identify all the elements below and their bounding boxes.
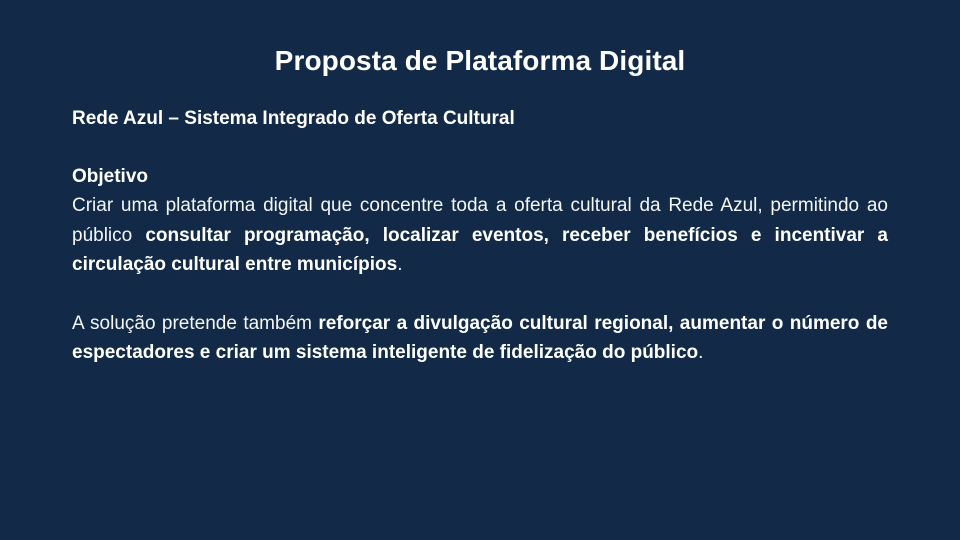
page-title: Proposta de Plataforma Digital <box>0 44 960 78</box>
spacer-between-paragraphs <box>72 280 888 309</box>
slide-canvas: Proposta de Plataforma Digital Rede Azul… <box>0 0 960 540</box>
paragraph-solucao-run-regular-2: . <box>698 342 703 363</box>
section-heading-objetivo: Objetivo <box>72 162 888 191</box>
paragraph-objetivo-run-bold: consultar programação, localizar eventos… <box>72 225 888 276</box>
paragraph-objetivo: Criar uma plataforma digital que concent… <box>72 191 888 280</box>
spacer-after-subtitle <box>72 133 888 162</box>
paragraph-solucao-run-regular-1: A solução pretende também <box>72 313 318 334</box>
slide-subtitle: Rede Azul – Sistema Integrado de Oferta … <box>72 104 888 133</box>
paragraph-solucao: A solução pretende também reforçar a div… <box>72 309 888 368</box>
slide-body: Rede Azul – Sistema Integrado de Oferta … <box>72 104 888 368</box>
paragraph-objetivo-run-regular-2: . <box>397 254 402 275</box>
